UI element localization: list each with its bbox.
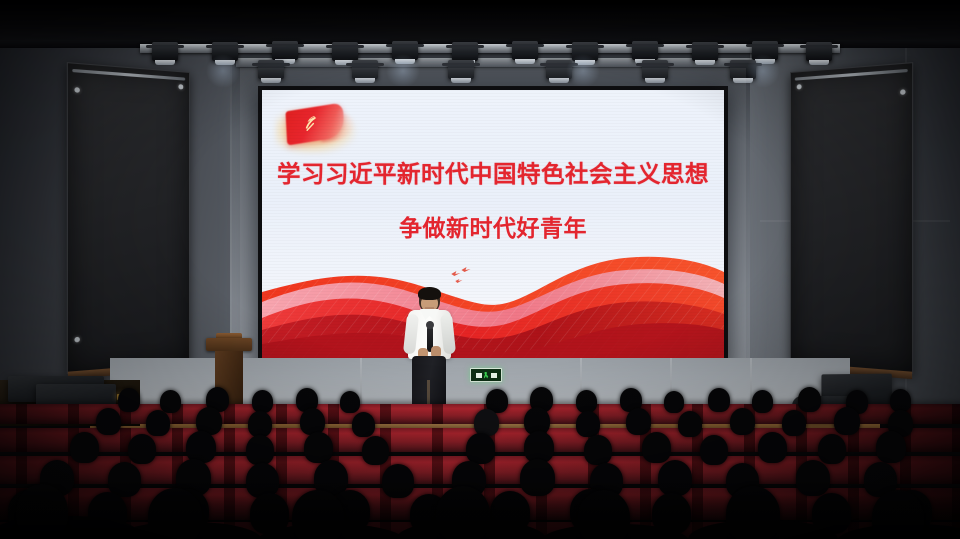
audience-head: [382, 464, 414, 498]
audience-head: [584, 435, 612, 465]
stage-light-icon: [572, 42, 598, 61]
audience-head: [352, 412, 375, 437]
stage-light-icon: [258, 60, 284, 79]
hammer-sickle-icon: [301, 113, 320, 132]
audience-head: [708, 388, 730, 412]
acoustic-panel-right: [790, 62, 913, 374]
audience-head: [96, 408, 121, 435]
stage-light-icon: [392, 41, 418, 60]
wall-seam: [230, 40, 232, 370]
audience-head: [834, 407, 860, 435]
audience-head: [700, 435, 728, 465]
slide-canvas: 学习习近平新时代中国特色社会主义思想 争做新时代好青年: [262, 90, 724, 364]
lighting-truss-front: [236, 58, 756, 67]
audience-head: [474, 409, 499, 436]
audience-head: [248, 411, 272, 437]
lighting-truss-rear: [140, 44, 840, 53]
audience-head: [658, 460, 692, 496]
audience-head: [890, 389, 911, 412]
stage-light-icon: [272, 41, 298, 60]
audience-head: [752, 390, 773, 413]
audience-head: [246, 435, 274, 465]
audience-head-foreground: [436, 486, 490, 539]
audience-head: [146, 410, 170, 436]
stage-light-icon: [512, 41, 538, 60]
audience-head: [576, 411, 600, 437]
led-display-screen: 学习习近平新时代中国特色社会主义思想 争做新时代好青年: [258, 86, 728, 368]
audience-head-foreground: [578, 490, 630, 539]
stage-light-icon: [332, 42, 358, 61]
audience-head: [576, 390, 597, 413]
audience-head: [664, 391, 684, 413]
panel-rail: [72, 69, 185, 81]
stage-light-icon: [546, 60, 572, 79]
presenter-hair: [418, 287, 441, 300]
auditorium-photo: 学习习近平新时代中国特色社会主义思想 争做新时代好青年: [0, 0, 960, 539]
stage-light-icon: [642, 60, 668, 79]
audience-head: [304, 432, 333, 463]
audience-head: [796, 460, 830, 496]
audience-head: [678, 411, 702, 437]
slide-title-line1: 学习习近平新时代中国特色社会主义思想: [262, 162, 724, 187]
slide-wave-graphic: [262, 248, 724, 364]
acoustic-panel-left: [67, 62, 190, 374]
audience-head: [362, 436, 389, 465]
audience-head: [300, 408, 325, 435]
audience-head: [626, 408, 651, 435]
audience-head: [730, 408, 755, 435]
panel-rail: [795, 69, 908, 81]
audience-head: [758, 432, 787, 463]
audience-head: [466, 433, 495, 464]
panel-bracket: [797, 84, 802, 89]
panel-bracket: [178, 84, 183, 89]
stage-light-icon: [730, 60, 756, 79]
audience-head-foreground: [148, 488, 202, 539]
audience-head: [642, 432, 671, 463]
audience-head-foreground: [292, 490, 344, 539]
stage-light-icon: [352, 60, 378, 79]
audience-head: [70, 432, 99, 463]
podium-top: [206, 338, 252, 351]
audience-head-foreground: [16, 484, 68, 538]
stage-light-icon: [632, 41, 658, 60]
audience-head: [118, 388, 140, 412]
stage-light-icon: [212, 42, 238, 61]
stage-light-icon: [752, 41, 778, 60]
audience-head-foreground: [726, 486, 780, 539]
party-flag-icon: [276, 104, 356, 160]
audience-head: [520, 459, 555, 496]
stage-light-icon: [448, 60, 474, 79]
panel-bracket: [900, 89, 905, 95]
audience-head: [128, 434, 156, 464]
stage-light-icon: [806, 42, 832, 61]
audience-head: [798, 387, 821, 412]
audience-head: [108, 462, 141, 497]
audience-head: [160, 390, 181, 413]
panel-bracket: [74, 87, 79, 93]
audience-head: [340, 391, 360, 413]
ceiling-slab: [0, 0, 960, 44]
audience-seating-area: [0, 376, 960, 539]
slide-title-line2: 争做新时代好青年: [262, 209, 724, 243]
panel-bracket: [74, 337, 79, 343]
stage-light-icon: [692, 42, 718, 61]
audience-head: [876, 431, 906, 463]
audience-head: [818, 434, 846, 464]
audience-head: [252, 390, 273, 413]
audience-head-foreground: [872, 490, 924, 539]
audience-head: [782, 410, 806, 436]
stage-light-icon: [152, 42, 178, 61]
stage-light-icon: [452, 42, 478, 61]
